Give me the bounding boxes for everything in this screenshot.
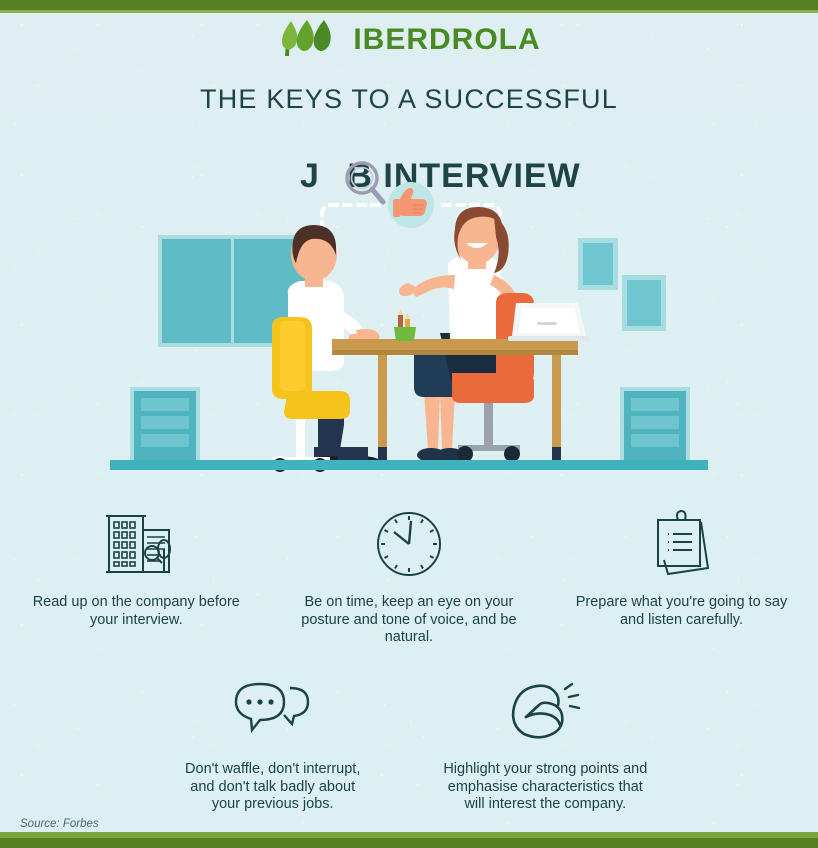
top-green-bar xyxy=(0,0,818,10)
brand-logo-text: IBERDROLA xyxy=(353,23,540,57)
tips-row-primary: Read up on the company before your inter… xyxy=(0,505,818,647)
pencil-cup xyxy=(394,309,416,341)
tip-prepare-and-listen: Prepare what you're going to say and lis… xyxy=(545,505,818,647)
notepad-icon xyxy=(642,505,720,583)
infographic-page: IBERDROLA THE KEYS TO A SUCCESSFUL JOB I… xyxy=(0,0,818,848)
tips-row-secondary: Don't waffle, don't interrupt, and don't… xyxy=(0,672,818,814)
thumbs-up-icon xyxy=(388,182,434,228)
speech-bubbles-icon xyxy=(230,672,316,750)
tip-text: Read up on the company before your inter… xyxy=(33,594,240,629)
office-building-icon xyxy=(97,505,175,583)
floor-line xyxy=(110,460,708,470)
tip-text: Highlight your strong points and emphasi… xyxy=(443,761,647,814)
page-title-line1: THE KEYS TO A SUCCESSFUL xyxy=(0,84,818,115)
tip-dont-waffle: Don't waffle, don't interrupt, and don't… xyxy=(136,672,409,814)
source-credit: Source: Forbes xyxy=(20,818,99,830)
tip-text: Prepare what you're going to say and lis… xyxy=(576,594,788,629)
leaf-drops-icon xyxy=(277,18,343,63)
tip-text: Don't waffle, don't interrupt, and don't… xyxy=(185,761,360,814)
top-green-accent xyxy=(0,10,818,13)
laptop xyxy=(508,303,590,341)
brand-logo: IBERDROLA xyxy=(0,18,818,62)
wall-frame-small xyxy=(578,238,618,290)
job-interview-illustration xyxy=(0,175,818,485)
flexed-bicep-icon xyxy=(502,672,588,750)
wall-frame-large xyxy=(622,275,666,331)
bottom-green-bar xyxy=(0,838,818,848)
cabinet-left xyxy=(130,387,200,465)
tip-be-on-time: Be on time, keep an eye on your posture … xyxy=(273,505,546,647)
tip-read-up-on-company: Read up on the company before your inter… xyxy=(0,505,273,647)
clock-icon xyxy=(372,505,446,583)
magnifying-glass-icon xyxy=(258,120,304,168)
tip-text: Be on time, keep an eye on your posture … xyxy=(301,594,516,647)
cabinet-right xyxy=(620,387,690,465)
tip-highlight-strong-points: Highlight your strong points and emphasi… xyxy=(409,672,682,814)
